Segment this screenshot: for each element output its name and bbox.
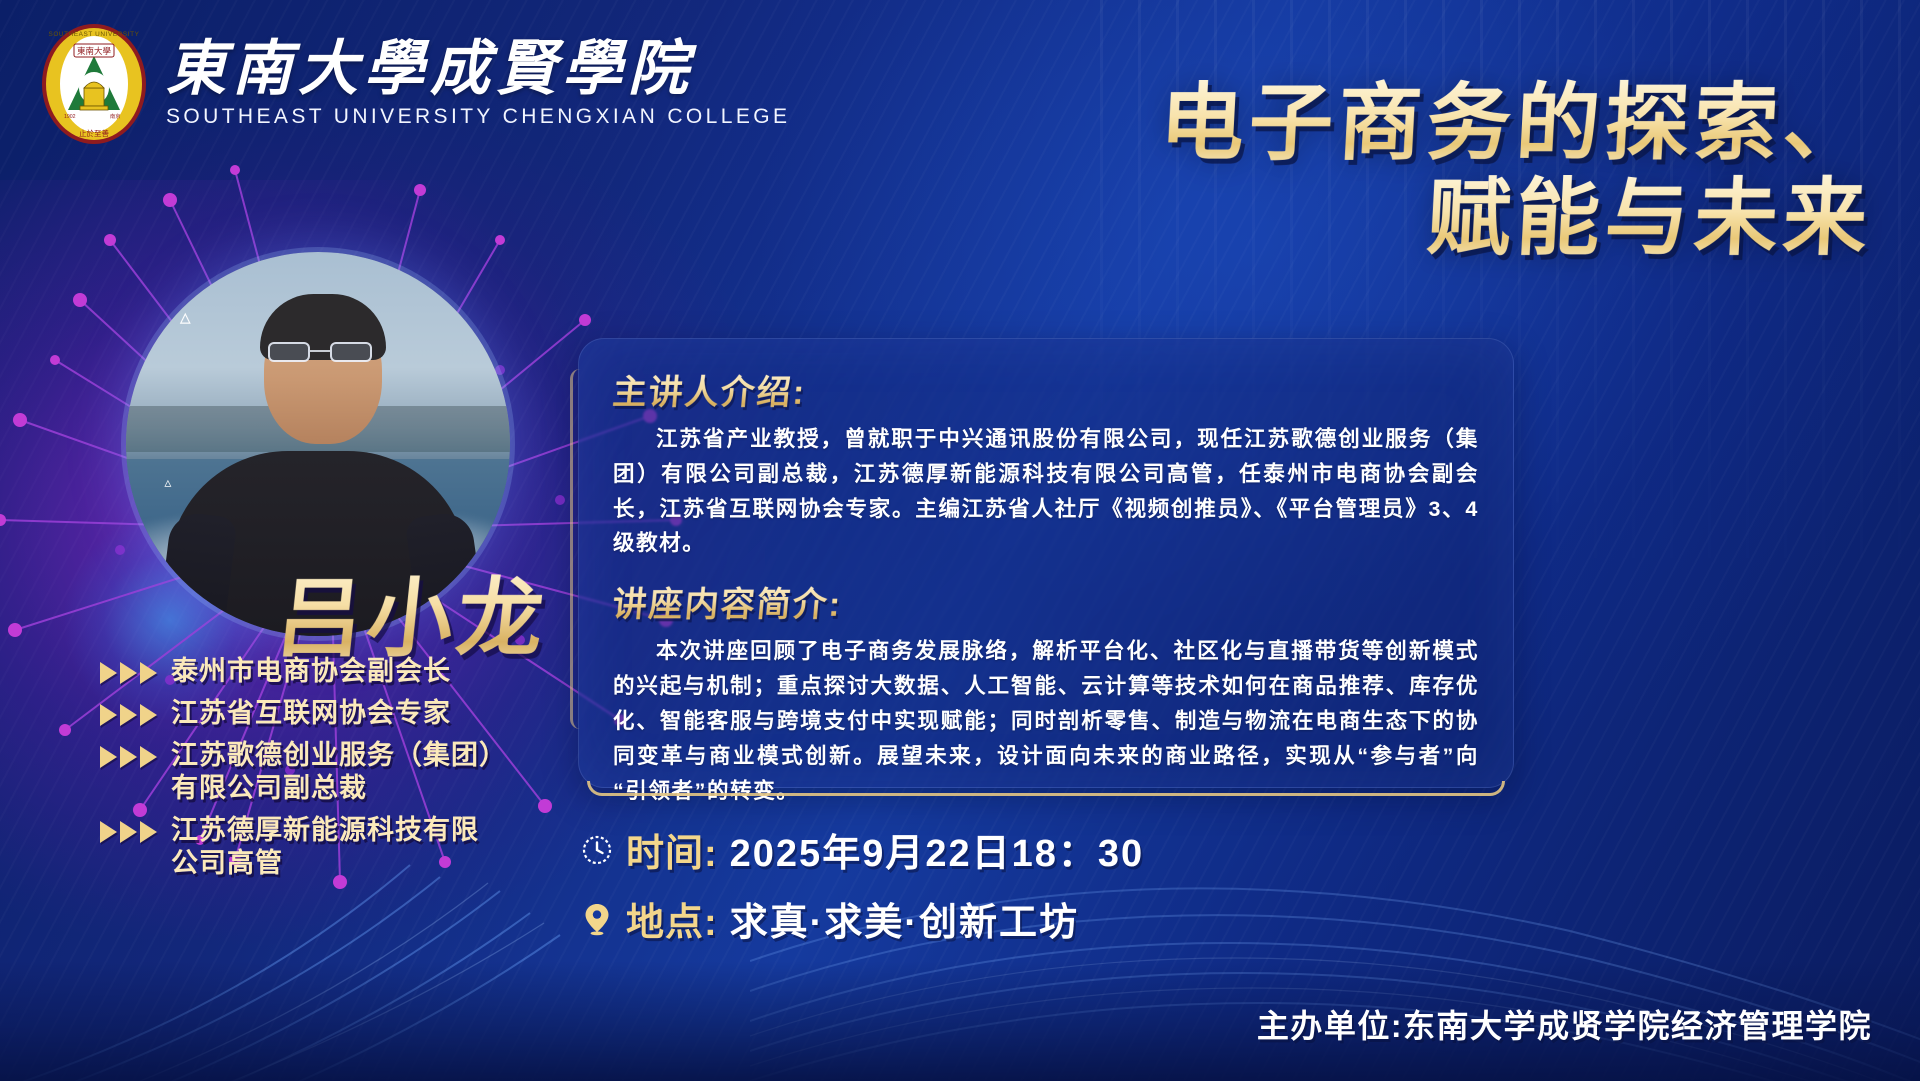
credential-text: 江苏歌德创业服务（集团） 有限公司副总裁 [171,739,507,805]
triple-chevron-icon [100,655,157,684]
event-location-value: 求真·求美·创新工坊 [730,891,1079,946]
svg-text:1902: 1902 [64,114,76,120]
event-meta: 时间: 2025年9月22日18：30 地点: 求真·求美·创新工坊 [580,822,1144,946]
event-location-row: 地点: 求真·求美·创新工坊 [580,891,1144,946]
speaker-intro-heading: 主讲人介绍: [611,365,809,414]
triple-chevron-icon [100,814,157,843]
clock-icon [580,832,614,868]
credential-item: 江苏德厚新能源科技有限 公司高管 [100,814,620,880]
university-seal-icon: 東南大學 SOUTHEAST UNIVERSITY 1902 南京 止於至善 [40,22,148,146]
credential-item: 江苏省互联网协会专家 [100,697,620,730]
lecture-summary-body: 本次讲座回顾了电子商务发展脉络，解析平台化、社区化与直播带货等创新模式的兴起与机… [613,634,1479,808]
triple-chevron-icon [100,739,157,768]
lecture-poster: 東南大學 SOUTHEAST UNIVERSITY 1902 南京 止於至善 東… [0,0,1920,1081]
event-time-label: 时间: [626,822,718,877]
svg-text:東南大學: 東南大學 [77,46,112,56]
poster-title-line-2: 赋能与未来 [840,173,1875,264]
svg-text:止於至善: 止於至善 [79,128,109,138]
triple-chevron-icon [100,697,157,726]
event-time-row: 时间: 2025年9月22日18：30 [580,822,1144,877]
svg-text:SOUTHEAST UNIVERSITY: SOUTHEAST UNIVERSITY [48,31,139,38]
poster-title: 电子商务的探索、 赋能与未来 [842,78,1872,263]
poster-title-line-1: 电子商务的探索、 [840,78,1875,169]
credential-text: 江苏省互联网协会专家 [171,697,451,730]
content-card: 主讲人介绍: 江苏省产业教授，曾就职于中兴通讯股份有限公司，现任江苏歌德创业服务… [578,338,1514,788]
university-logo-block: 東南大學 SOUTHEAST UNIVERSITY 1902 南京 止於至善 東… [40,22,790,146]
credential-item: 江苏歌德创业服务（集团） 有限公司副总裁 [100,739,620,805]
lecture-summary-heading: 讲座内容简介: [611,577,845,626]
speaker-intro-body: 江苏省产业教授，曾就职于中兴通讯股份有限公司，现任江苏歌德创业服务（集团）有限公… [613,422,1479,561]
event-location-label: 地点: [626,891,718,946]
event-time-value: 2025年9月22日18：30 [730,822,1144,877]
university-name-cn: 東南大學成賢學院 [166,39,790,100]
credential-text: 泰州市电商协会副会长 [171,655,451,688]
map-pin-icon [580,901,614,937]
credential-text: 江苏德厚新能源科技有限 公司高管 [171,814,479,880]
speaker-credentials-list: 泰州市电商协会副会长 江苏省互联网协会专家 江苏歌德创业服务（集团） 有限公司副… [100,655,620,880]
organizer-text: 主办单位:东南大学成贤学院经济管理学院 [1257,1001,1872,1047]
university-name-en: SOUTHEAST UNIVERSITY CHENGXIAN COLLEGE [166,105,790,129]
credential-item: 泰州市电商协会副会长 [100,655,620,688]
svg-text:南京: 南京 [110,112,120,120]
